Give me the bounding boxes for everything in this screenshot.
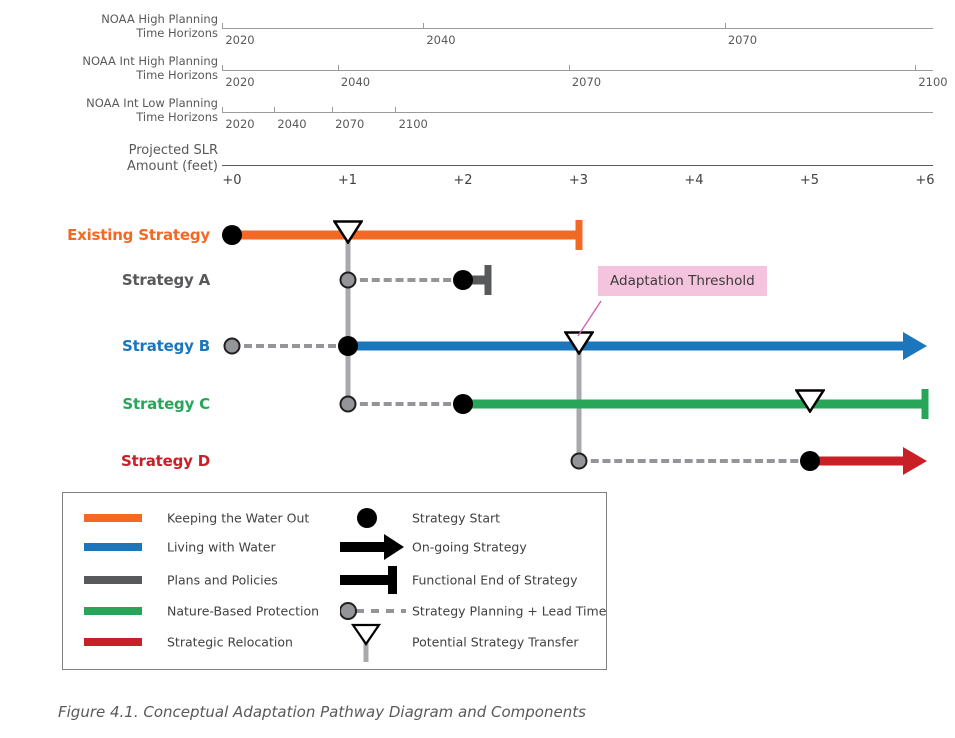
slr-axis-line (222, 165, 933, 166)
planning-dash-strategy-d (579, 459, 810, 463)
figure-canvas: NOAA High PlanningTime Horizons202020402… (0, 0, 955, 738)
strategy-label-strategy-b: Strategy B (10, 337, 210, 355)
time-axis-label-noaa-int-low: NOAA Int Low PlanningTime Horizons (58, 96, 218, 124)
time-axis-tick (332, 107, 333, 112)
legend-label-functional-end-of-strategy: Functional End of Strategy (412, 573, 578, 588)
legend-swatch-nature-based-protection (84, 607, 142, 615)
end-of-strategy-cap-existing-strategy (575, 220, 582, 250)
slr-tick-label: +3 (569, 173, 588, 188)
planning-dash-strategy-c (348, 402, 464, 406)
figure-caption: Figure 4.1. Conceptual Adaptation Pathwa… (58, 703, 586, 721)
legend-symbol-arrow-icon (340, 531, 406, 563)
slr-tick-label: +1 (338, 173, 357, 188)
time-axis-tick (569, 65, 570, 70)
end-of-strategy-cap-strategy-a (485, 265, 492, 295)
legend-swatch-plans-and-policies (84, 576, 142, 584)
time-axis-tick (725, 23, 726, 28)
slr-tick-label: +6 (915, 173, 934, 188)
legend-swatch-living-with-water (84, 543, 142, 551)
ongoing-arrow-strategy-b (903, 332, 927, 360)
planning-dash-strategy-b (232, 344, 348, 348)
planning-dash-strategy-a (348, 278, 464, 282)
time-axis-tick (222, 107, 223, 112)
time-axis-tick-label: 2020 (225, 75, 254, 89)
planning-circle-strategy-d (570, 453, 587, 470)
strategy-label-strategy-a: Strategy A (10, 271, 210, 289)
strategy-start-dot-strategy-a (453, 270, 473, 290)
time-axis-tick-label: 2040 (277, 117, 306, 131)
planning-circle-strategy-a (339, 272, 356, 289)
strategy-line-strategy-d (810, 457, 904, 466)
time-axis-tick (423, 23, 424, 28)
legend-label-plans-and-policies: Plans and Policies (167, 573, 278, 588)
planning-circle-strategy-c (339, 396, 356, 413)
planning-circle-strategy-b (224, 338, 241, 355)
slr-label-line2: Amount (feet) (58, 159, 218, 175)
strategy-label-existing-strategy: Existing Strategy (10, 226, 210, 244)
slr-tick-label: +0 (222, 173, 241, 188)
transfer-triangle-strategy-b (564, 331, 594, 355)
time-axis-tick-label: 2100 (918, 75, 947, 89)
slr-tick-label: +5 (800, 173, 819, 188)
strategy-start-dot-existing-strategy (222, 225, 242, 245)
time-axis-tick-label: 2070 (572, 75, 601, 89)
legend-symbol-dot-icon (340, 502, 406, 534)
time-axis-tick-label: 2020 (225, 117, 254, 131)
strategy-label-strategy-d: Strategy D (10, 452, 210, 470)
strategy-start-dot-strategy-d (800, 451, 820, 471)
end-of-strategy-cap-strategy-c (922, 389, 929, 419)
legend-label-ongoing-strategy: On-going Strategy (412, 540, 527, 555)
time-axis-tick-label: 2100 (399, 117, 428, 131)
strategy-start-dot-strategy-b (338, 336, 358, 356)
legend-label-nature-based-protection: Nature-Based Protection (167, 604, 319, 619)
slr-axis-label: Projected SLRAmount (feet) (58, 143, 218, 175)
transfer-connector-existing-to-b (345, 235, 350, 407)
time-axis-tick (915, 65, 916, 70)
legend-label-living-with-water: Living with Water (167, 540, 276, 555)
time-axis-line-noaa-int-high (222, 70, 933, 71)
time-axis-label-noaa-high: NOAA High PlanningTime Horizons (58, 12, 218, 40)
axis-label-line2: Time Horizons (58, 26, 218, 40)
time-axis-tick (395, 107, 396, 112)
slr-label-line1: Projected SLR (58, 143, 218, 159)
legend-symbol-end-bar-icon (340, 564, 406, 596)
slr-tick-label: +2 (453, 173, 472, 188)
time-axis-tick-label: 2070 (335, 117, 364, 131)
time-axis-tick (222, 23, 223, 28)
strategy-start-dot-strategy-c (453, 394, 473, 414)
legend-symbol-triangle-icon (340, 626, 406, 658)
time-axis-line-noaa-high (222, 28, 933, 29)
legend-label-strategy-start: Strategy Start (412, 511, 500, 526)
strategy-line-strategy-b (348, 342, 904, 351)
slr-tick-label: +4 (684, 173, 703, 188)
transfer-triangle-existing-strategy (333, 220, 363, 244)
time-axis-tick (222, 65, 223, 70)
legend-label-keeping-the-water-out: Keeping the Water Out (167, 511, 309, 526)
ongoing-arrow-strategy-d (903, 447, 927, 475)
axis-label-line1: NOAA Int High Planning (58, 54, 218, 68)
strategy-label-strategy-c: Strategy C (10, 395, 210, 413)
time-axis-tick-label: 2070 (728, 33, 757, 47)
strategy-line-strategy-c (463, 400, 925, 409)
time-axis-tick-label: 2040 (426, 33, 455, 47)
legend-swatch-keeping-the-water-out (84, 514, 142, 522)
time-axis-tick-label: 2020 (225, 33, 254, 47)
legend-label-strategic-relocation: Strategic Relocation (167, 635, 293, 650)
strategy-line-existing-strategy (232, 231, 579, 240)
time-axis-line-noaa-int-low (222, 112, 933, 113)
time-axis-label-noaa-int-high: NOAA Int High PlanningTime Horizons (58, 54, 218, 82)
legend-label-strategy-planning-lead-time: Strategy Planning + Lead Time (412, 604, 606, 619)
adaptation-threshold-label: Adaptation Threshold (598, 266, 767, 296)
axis-label-line1: NOAA Int Low Planning (58, 96, 218, 110)
axis-label-line2: Time Horizons (58, 68, 218, 82)
legend-swatch-strategic-relocation (84, 638, 142, 646)
time-axis-tick (274, 107, 275, 112)
time-axis-tick-label: 2040 (341, 75, 370, 89)
transfer-triangle-strategy-c (795, 389, 825, 413)
axis-label-line1: NOAA High Planning (58, 12, 218, 26)
axis-label-line2: Time Horizons (58, 110, 218, 124)
legend-label-potential-strategy-transfer: Potential Strategy Transfer (412, 635, 579, 650)
time-axis-tick (338, 65, 339, 70)
